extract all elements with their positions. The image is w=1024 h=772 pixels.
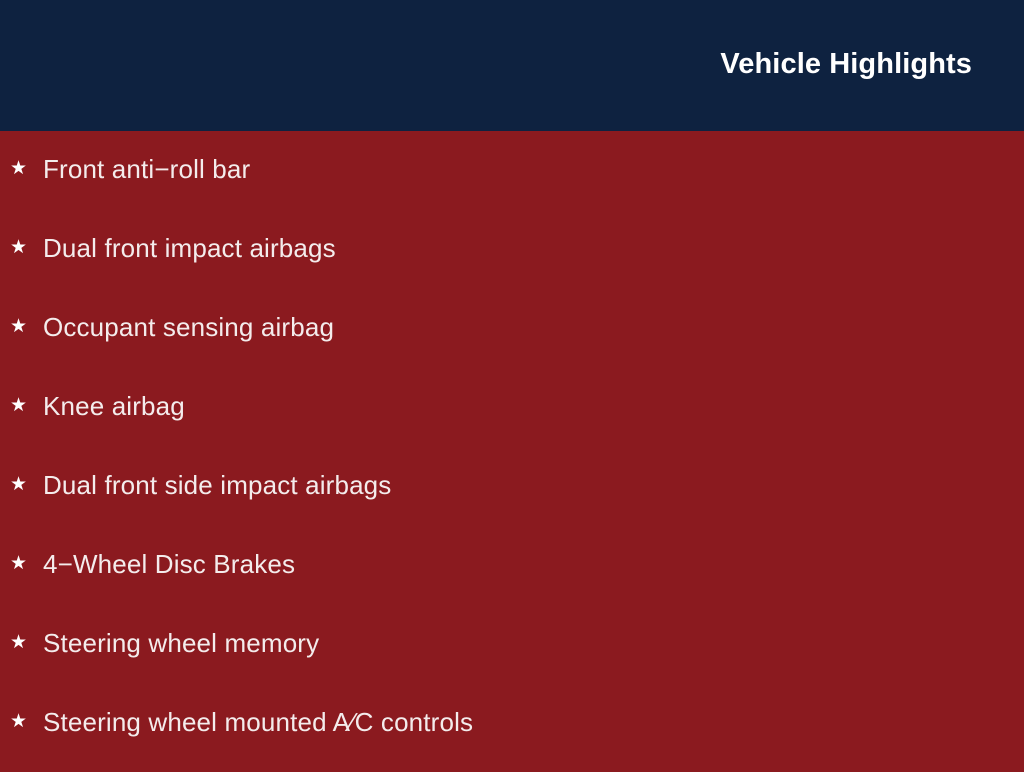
list-item: ★ Dual front impact airbags	[0, 219, 1024, 298]
star-icon: ★	[10, 394, 32, 418]
star-icon: ★	[10, 710, 32, 734]
list-item: ★ Knee airbag	[0, 377, 1024, 456]
list-item-label: Front anti−roll bar	[43, 140, 250, 185]
star-icon: ★	[10, 631, 32, 655]
vehicle-highlights-slide: Vehicle Highlights ★ Front anti−roll bar…	[0, 0, 1024, 768]
list-item: ★ Dual front side impact airbags	[0, 456, 1024, 535]
list-item: ★ 4−Wheel Disc Brakes	[0, 535, 1024, 614]
highlights-list: ★ Front anti−roll bar ★ Dual front impac…	[0, 140, 1024, 772]
list-item: ★ Steering wheel mounted A∕C controls	[0, 693, 1024, 772]
list-item-label: Knee airbag	[43, 377, 185, 422]
page-title: Vehicle Highlights	[720, 47, 972, 81]
list-item: ★ Front anti−roll bar	[0, 140, 1024, 219]
list-item-label: Steering wheel mounted A∕C controls	[43, 693, 473, 738]
list-item: ★ Steering wheel memory	[0, 614, 1024, 693]
list-item: ★ Occupant sensing airbag	[0, 298, 1024, 377]
list-item-label: Steering wheel memory	[43, 614, 319, 659]
star-icon: ★	[10, 473, 32, 497]
slide-body: ★ Front anti−roll bar ★ Dual front impac…	[0, 131, 1024, 768]
star-icon: ★	[10, 236, 32, 260]
list-item-label: 4−Wheel Disc Brakes	[43, 535, 295, 580]
star-icon: ★	[10, 157, 32, 181]
star-icon: ★	[10, 315, 32, 339]
list-item-label: Dual front impact airbags	[43, 219, 336, 264]
list-item-label: Dual front side impact airbags	[43, 456, 391, 501]
slide-header: Vehicle Highlights	[0, 0, 1024, 131]
star-icon: ★	[10, 552, 32, 576]
list-item-label: Occupant sensing airbag	[43, 298, 334, 343]
